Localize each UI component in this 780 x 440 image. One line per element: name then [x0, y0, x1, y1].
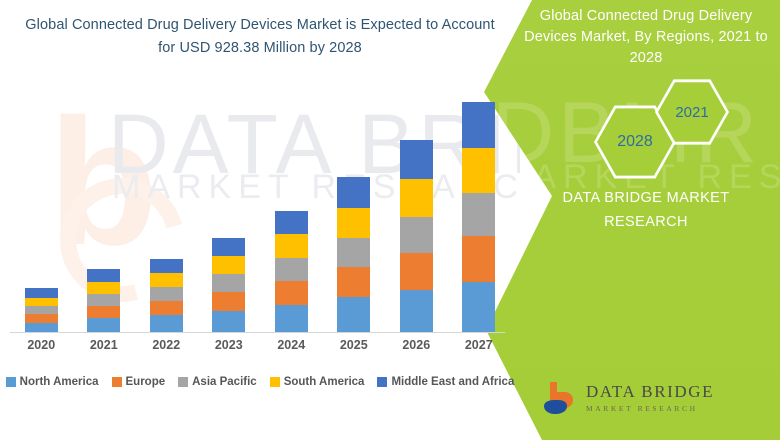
bar-column-2024 — [275, 211, 308, 332]
bar-segment — [25, 288, 58, 297]
infographic-canvas: b DATA BRIDGE MARKET RESEARCH DBMR MARKE… — [0, 0, 780, 440]
x-axis-line — [10, 332, 505, 333]
bar-segment — [25, 306, 58, 314]
bar-segment — [25, 298, 58, 306]
logo-b-icon — [540, 380, 580, 420]
legend-label: North America — [20, 376, 99, 388]
bar-segment — [462, 193, 495, 236]
bar-segment — [25, 323, 58, 332]
bar-segment — [337, 238, 370, 267]
bar-segment — [462, 148, 495, 193]
bar-segment — [400, 140, 433, 180]
bar-segment — [87, 269, 120, 282]
brand-logo: DATA BRIDGE MARKET RESEARCH — [540, 378, 770, 422]
x-axis-label-2020: 2020 — [11, 338, 71, 352]
x-axis-labels: 20202021202220232024202520262027 — [10, 338, 510, 358]
legend-item-north-america[interactable]: North America — [6, 376, 99, 388]
bar-segment — [212, 256, 245, 275]
bar-segment — [150, 315, 183, 332]
x-axis-label-2027: 2027 — [449, 338, 509, 352]
hexagon-group: 2028 2021 — [520, 80, 772, 180]
bar-segment — [25, 314, 58, 322]
hexagon-label-right: 2021 — [675, 104, 708, 121]
chart-title: Global Connected Drug Delivery Devices M… — [20, 14, 500, 60]
bar-segment — [212, 311, 245, 332]
bar-segment — [212, 238, 245, 256]
bar-segment — [400, 253, 433, 291]
bar-column-2023 — [212, 238, 245, 332]
legend-label: Asia Pacific — [192, 376, 257, 388]
bar-segment — [337, 177, 370, 207]
bar-segment — [150, 273, 183, 287]
legend-label: Europe — [126, 376, 166, 388]
bar-segment — [400, 290, 433, 332]
x-axis-label-2022: 2022 — [136, 338, 196, 352]
chart-legend: North AmericaEuropeAsia PacificSouth Ame… — [14, 376, 506, 388]
logo-tagline: MARKET RESEARCH — [586, 404, 714, 413]
legend-swatch-icon — [270, 377, 280, 387]
bar-segment — [275, 211, 308, 234]
panel-title: Global Connected Drug Delivery Devices M… — [520, 6, 772, 69]
legend-swatch-icon — [178, 377, 188, 387]
hexagon-label-left: 2028 — [617, 133, 653, 151]
x-axis-label-2025: 2025 — [324, 338, 384, 352]
bar-segment — [337, 297, 370, 332]
bar-segment — [87, 282, 120, 295]
logo-name: DATA BRIDGE — [586, 382, 714, 402]
bar-segment — [337, 208, 370, 238]
hexagon-badge-2021: 2021 — [655, 78, 729, 146]
logo-text-block: DATA BRIDGE MARKET RESEARCH — [586, 382, 714, 413]
legend-item-asia-pacific[interactable]: Asia Pacific — [178, 376, 257, 388]
bar-segment — [150, 259, 183, 274]
bar-column-2021 — [87, 269, 120, 332]
bar-segment — [400, 179, 433, 217]
x-axis-label-2024: 2024 — [261, 338, 321, 352]
bar-segment — [87, 306, 120, 319]
x-axis-label-2021: 2021 — [74, 338, 134, 352]
bar-series-container — [10, 60, 510, 332]
legend-item-europe[interactable]: Europe — [112, 376, 166, 388]
x-axis-label-2023: 2023 — [199, 338, 259, 352]
bar-segment — [275, 258, 308, 281]
bar-segment — [87, 318, 120, 332]
bar-segment — [150, 301, 183, 316]
legend-label: South America — [284, 376, 365, 388]
bar-segment — [212, 274, 245, 292]
bar-column-2027 — [462, 102, 495, 332]
legend-label: Middle East and Africa — [391, 376, 514, 388]
legend-item-middle-east-and-africa[interactable]: Middle East and Africa — [377, 376, 514, 388]
bar-segment — [150, 287, 183, 301]
bar-segment — [462, 236, 495, 282]
bar-segment — [275, 234, 308, 258]
bar-segment — [462, 282, 495, 332]
legend-swatch-icon — [112, 377, 122, 387]
legend-swatch-icon — [377, 377, 387, 387]
bar-segment — [337, 267, 370, 297]
bar-column-2025 — [337, 177, 370, 332]
bar-column-2020 — [25, 288, 58, 332]
panel-subtitle: DATA BRIDGE MARKET RESEARCH — [520, 186, 772, 234]
bar-segment — [212, 292, 245, 311]
bar-segment — [87, 294, 120, 306]
legend-item-south-america[interactable]: South America — [270, 376, 365, 388]
bar-segment — [275, 281, 308, 305]
bar-segment — [400, 217, 433, 253]
x-axis-label-2026: 2026 — [386, 338, 446, 352]
bar-column-2026 — [400, 140, 433, 332]
bar-segment — [275, 305, 308, 332]
bar-segment — [462, 102, 495, 148]
bar-column-2022 — [150, 259, 183, 332]
legend-swatch-icon — [6, 377, 16, 387]
